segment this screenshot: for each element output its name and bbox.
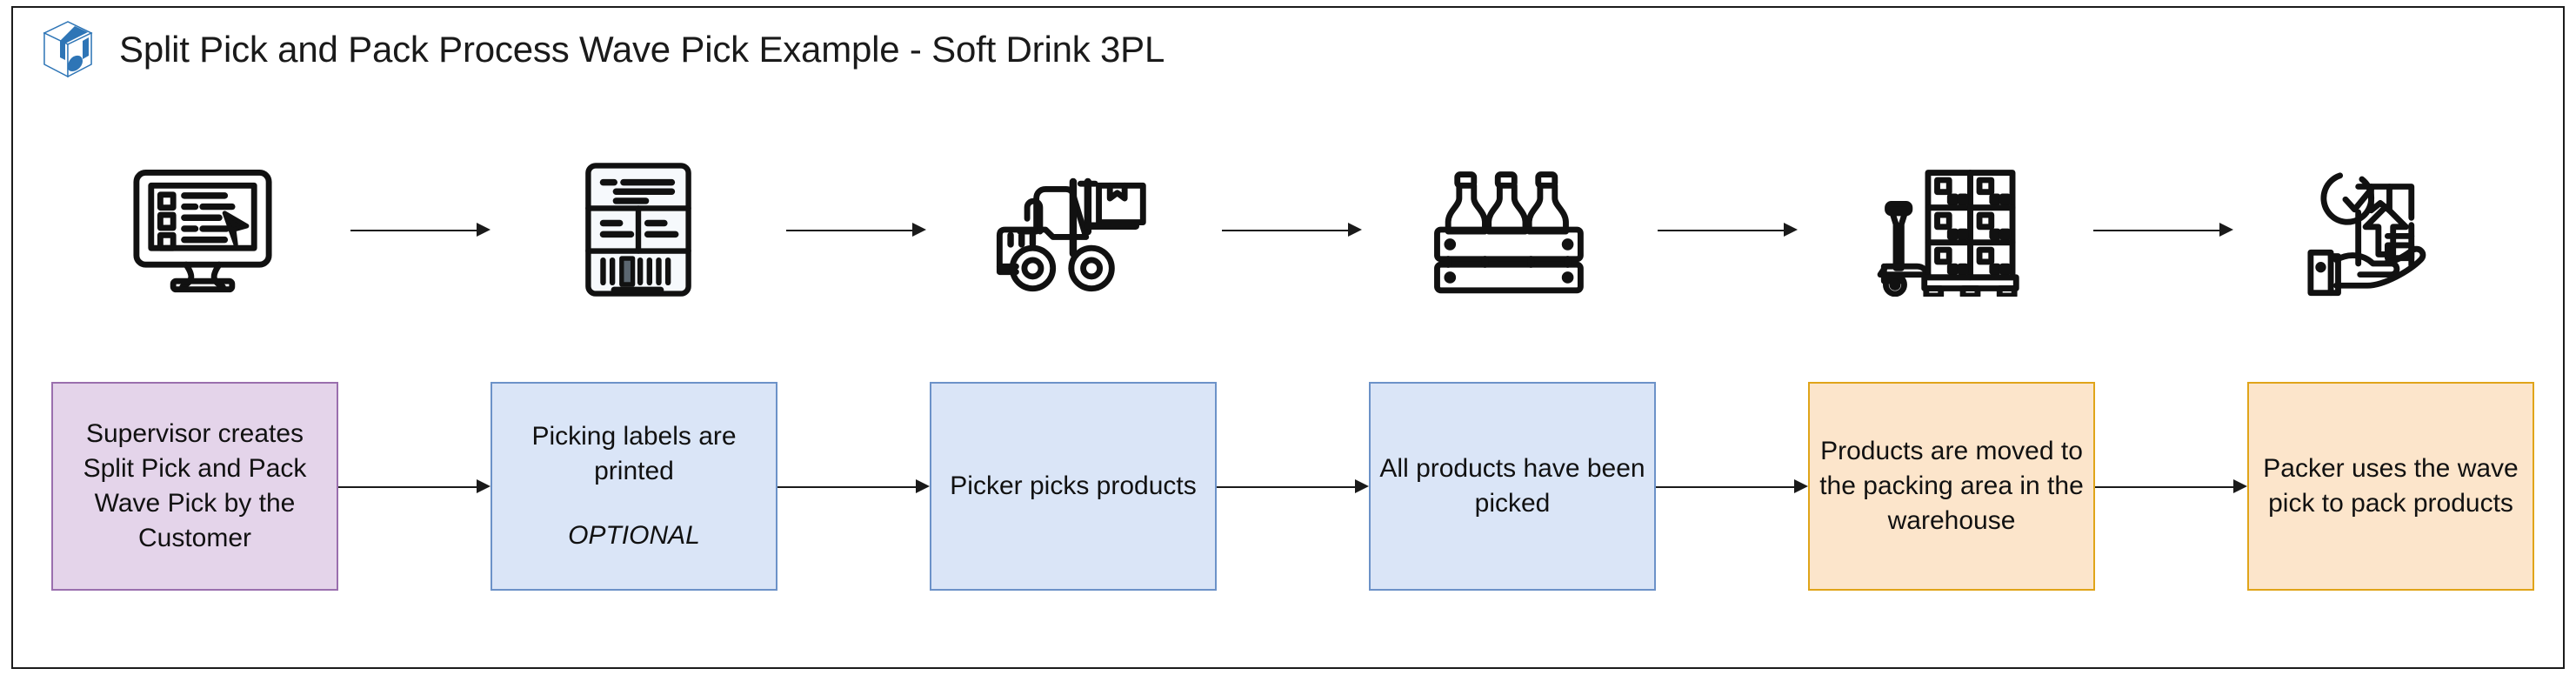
flow-arrow-icons-3: [1222, 220, 1362, 239]
process-step-3[interactable]: Picker picks products: [930, 382, 1217, 591]
process-step-4-label: All products have been picked: [1379, 451, 1645, 521]
shipping-label-barcode-icon: [491, 134, 786, 325]
arrow-head: [1784, 223, 1798, 237]
flow-arrow-steps-4: [1656, 477, 1808, 496]
flow-arrow-icons-5: [2093, 220, 2233, 239]
bottle-crate-icon: [1362, 134, 1658, 325]
diagram-header: Split Pick and Pack Process Wave Pick Ex…: [39, 15, 1165, 84]
arrow-head: [2219, 223, 2233, 237]
flow-arrow-icons-2: [786, 220, 926, 239]
process-step-5-label: Products are moved to the packing area i…: [1819, 434, 2085, 538]
flow-arrow-icons-1: [350, 220, 491, 239]
arrow-shaft: [786, 230, 918, 231]
arrow-shaft: [2093, 230, 2226, 231]
icon-row: [55, 130, 2529, 330]
arrow-shaft: [1217, 486, 1361, 488]
arrow-head: [2233, 479, 2247, 493]
diagram-canvas: Split Pick and Pack Process Wave Pick Ex…: [0, 0, 2576, 682]
process-step-6-label: Packer uses the wave pick to pack produc…: [2258, 451, 2524, 521]
diagram-frame: Split Pick and Pack Process Wave Pick Ex…: [11, 6, 2565, 669]
box-3d-logo-icon: [39, 19, 97, 80]
arrow-head: [477, 223, 491, 237]
package-in-hand-check-icon: [2233, 134, 2529, 325]
flow-arrow-steps-5: [2095, 477, 2247, 496]
arrow-shaft: [777, 486, 922, 488]
process-step-2-note: OPTIONAL: [568, 518, 700, 553]
process-step-1[interactable]: Supervisor creates Split Pick and Pack W…: [51, 382, 338, 591]
arrow-shaft: [1656, 486, 1800, 488]
flow-arrow-steps-2: [777, 477, 930, 496]
flow-arrow-steps-3: [1217, 477, 1369, 496]
page-title: Split Pick and Pack Process Wave Pick Ex…: [119, 29, 1165, 70]
pallet-jack-icon: [1798, 134, 2093, 325]
arrow-head: [912, 223, 926, 237]
arrow-head: [1355, 479, 1369, 493]
arrow-shaft: [1222, 230, 1354, 231]
process-step-5[interactable]: Products are moved to the packing area i…: [1808, 382, 2095, 591]
process-step-1-label: Supervisor creates Split Pick and Pack W…: [62, 417, 328, 556]
arrow-shaft: [2095, 486, 2239, 488]
flow-arrow-icons-4: [1658, 220, 1798, 239]
forklift-icon: [926, 134, 1222, 325]
flow-arrow-steps-1: [338, 477, 491, 496]
arrow-head: [1794, 479, 1808, 493]
process-step-4[interactable]: All products have been picked: [1369, 382, 1656, 591]
process-step-row: Supervisor creates Split Pick and Pack W…: [51, 382, 2534, 591]
arrow-head: [916, 479, 930, 493]
arrow-shaft: [350, 230, 483, 231]
arrow-head: [1348, 223, 1362, 237]
arrow-shaft: [1658, 230, 1790, 231]
arrow-head: [477, 479, 491, 493]
process-step-2-label: Picking labels are printed: [501, 419, 767, 489]
computer-checklist-icon: [55, 134, 350, 325]
process-step-2[interactable]: Picking labels are printed OPTIONAL: [491, 382, 777, 591]
process-step-3-label: Picker picks products: [950, 469, 1196, 504]
arrow-shaft: [338, 486, 483, 488]
process-step-6[interactable]: Packer uses the wave pick to pack produc…: [2247, 382, 2534, 591]
